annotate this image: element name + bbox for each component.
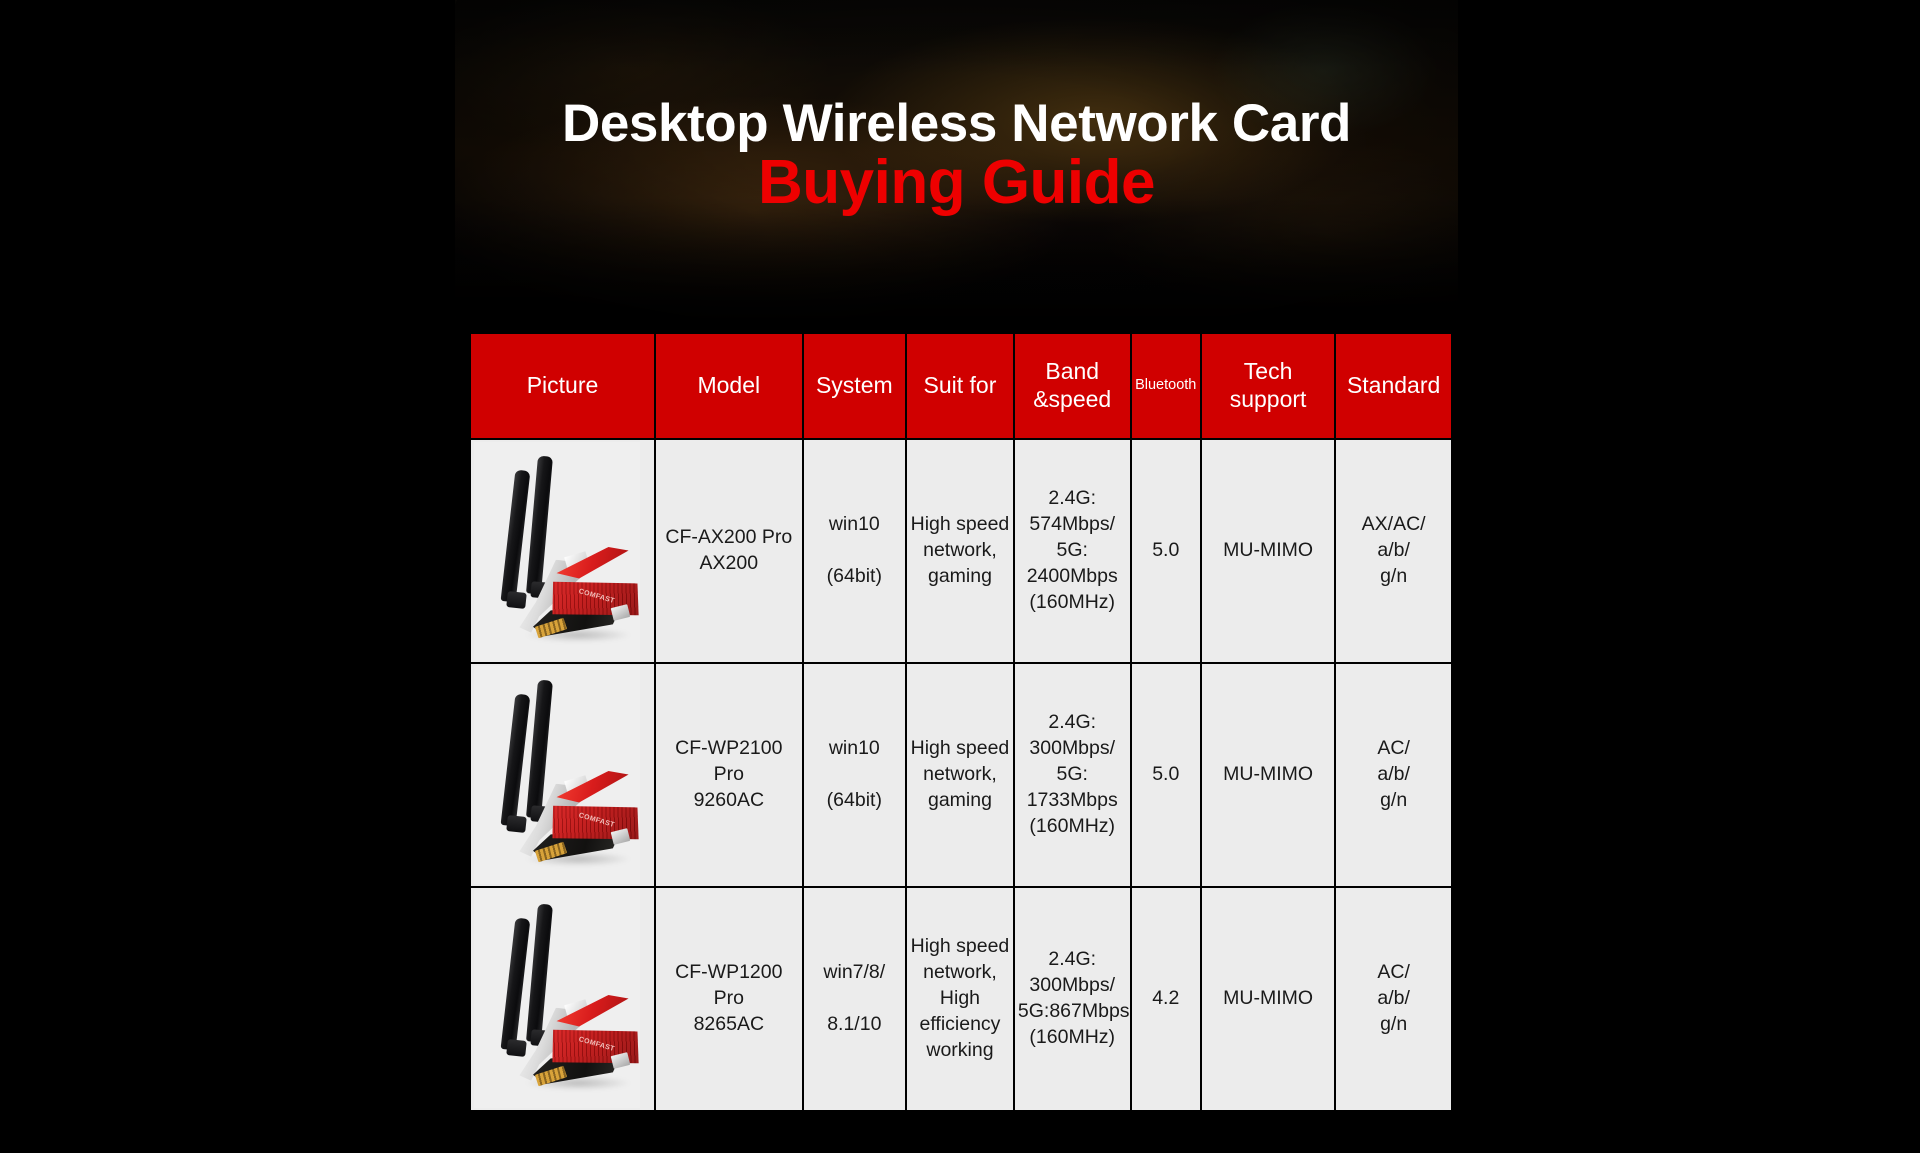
cell-picture: COMFAST	[471, 664, 654, 886]
system-line-2: (64bit)	[827, 789, 882, 811]
suit-line-1: High speed	[911, 513, 1010, 535]
suit-line-3: gaming	[928, 789, 992, 811]
cell-picture: COMFAST	[471, 440, 654, 662]
cell-bluetooth: 5.0	[1132, 440, 1200, 662]
table-row: COMFAST CF-AX200 Pro AX200 win10 (64bit)…	[471, 440, 1451, 662]
system-line-1: win7/8/	[823, 961, 885, 983]
cell-standard: AX/AC/ a/b/ g/n	[1336, 440, 1451, 662]
band-line-1: 2.4G:	[1048, 948, 1096, 970]
model-line-2: AX200	[700, 552, 759, 574]
antenna-left-base	[506, 591, 527, 609]
cell-standard: AC/ a/b/ g/n	[1336, 888, 1451, 1110]
antenna-port	[611, 828, 631, 845]
column-header-system: System	[804, 334, 905, 438]
model-line-1: CF-WP1200 Pro	[675, 961, 782, 1009]
model-line-1: CF-WP2100 Pro	[675, 737, 782, 785]
hero-banner: Desktop Wireless Network Card Buying Gui…	[455, 0, 1458, 318]
product-image-wireless-card: COMFAST	[474, 666, 640, 884]
table-row: COMFAST CF-WP1200 Pro 8265AC win7/8/ 8.1…	[471, 888, 1451, 1110]
standard-line-1: AX/AC/	[1362, 513, 1426, 535]
suit-line-2: network,	[923, 763, 997, 785]
band-line-5: (160MHz)	[1029, 815, 1115, 837]
standard-line-1: AC/	[1377, 961, 1410, 983]
table-row: COMFAST CF-WP2100 Pro 9260AC win10 (64bi…	[471, 664, 1451, 886]
cell-band-speed: 2.4G: 300Mbps/ 5G:867Mbps (160MHz)	[1015, 888, 1130, 1110]
suit-line-1: High speed	[911, 737, 1010, 759]
banner-title: Desktop Wireless Network Card	[455, 96, 1458, 152]
cell-tech-support: MU-MIMO	[1202, 888, 1334, 1110]
band-line-4: (160MHz)	[1029, 1026, 1115, 1048]
column-header-bluetooth: Bluetooth	[1132, 334, 1200, 438]
cell-system: win7/8/ 8.1/10	[804, 888, 905, 1110]
cell-standard: AC/ a/b/ g/n	[1336, 664, 1451, 886]
cell-tech-support: MU-MIMO	[1202, 440, 1334, 662]
table-header-row: Picture Model System Suit for Band &spee…	[471, 334, 1451, 438]
column-header-standard: Standard	[1336, 334, 1451, 438]
model-line-1: CF-AX200 Pro	[665, 526, 792, 548]
band-line-5: (160MHz)	[1029, 591, 1115, 613]
standard-line-3: g/n	[1380, 565, 1407, 587]
suit-line-5: working	[926, 1039, 993, 1061]
cell-suit-for: High speed network, High efficiency work…	[907, 888, 1013, 1110]
band-line-3: 5G:	[1057, 539, 1088, 561]
band-line-2: 300Mbps/	[1029, 737, 1115, 759]
banner-subtitle: Buying Guide	[455, 150, 1458, 216]
suit-line-4: efficiency	[919, 1013, 1000, 1035]
band-line-3: 5G:867Mbps	[1018, 1000, 1130, 1022]
standard-line-3: g/n	[1380, 1013, 1407, 1035]
cell-tech-support: MU-MIMO	[1202, 664, 1334, 886]
product-image-wireless-card: COMFAST	[474, 442, 640, 660]
antenna-port	[611, 604, 631, 621]
band-line-2: 574Mbps/	[1029, 513, 1115, 535]
band-line-4: 1733Mbps	[1027, 789, 1118, 811]
column-header-picture: Picture	[471, 334, 654, 438]
spec-comparison-table: Picture Model System Suit for Band &spee…	[469, 332, 1453, 1112]
cell-bluetooth: 4.2	[1132, 888, 1200, 1110]
cell-band-speed: 2.4G: 574Mbps/ 5G: 2400Mbps (160MHz)	[1015, 440, 1130, 662]
antenna-right-icon	[526, 456, 553, 595]
suit-line-3: High	[940, 987, 980, 1009]
band-line-1: 2.4G:	[1048, 711, 1096, 733]
band-line-4: 2400Mbps	[1027, 565, 1118, 587]
antenna-left-base	[506, 1039, 527, 1057]
standard-line-1: AC/	[1377, 737, 1410, 759]
column-header-model: Model	[656, 334, 802, 438]
antenna-port	[611, 1052, 631, 1069]
band-header-line-2: &speed	[1033, 386, 1111, 412]
page-root: Desktop Wireless Network Card Buying Gui…	[0, 0, 1920, 1153]
cell-model: CF-WP2100 Pro 9260AC	[656, 664, 802, 886]
cell-system: win10 (64bit)	[804, 664, 905, 886]
suit-line-2: network,	[923, 961, 997, 983]
suit-line-3: gaming	[928, 565, 992, 587]
system-line-1: win10	[829, 513, 880, 535]
cell-suit-for: High speed network, gaming	[907, 664, 1013, 886]
column-header-band-speed: Band &speed	[1015, 334, 1130, 438]
suit-line-2: network,	[923, 539, 997, 561]
cell-suit-for: High speed network, gaming	[907, 440, 1013, 662]
band-line-2: 300Mbps/	[1029, 974, 1115, 996]
cell-band-speed: 2.4G: 300Mbps/ 5G: 1733Mbps (160MHz)	[1015, 664, 1130, 886]
cell-picture: COMFAST	[471, 888, 654, 1110]
standard-line-3: g/n	[1380, 789, 1407, 811]
tech-header-line-2: support	[1230, 386, 1307, 412]
system-line-1: win10	[829, 737, 880, 759]
model-line-2: 8265AC	[694, 1013, 764, 1035]
product-image-wireless-card: COMFAST	[474, 890, 640, 1108]
cell-model: CF-WP1200 Pro 8265AC	[656, 888, 802, 1110]
column-header-suit-for: Suit for	[907, 334, 1013, 438]
cell-model: CF-AX200 Pro AX200	[656, 440, 802, 662]
model-line-2: 9260AC	[694, 789, 764, 811]
tech-header-line-1: Tech	[1244, 358, 1293, 384]
antenna-right-icon	[526, 680, 553, 819]
spec-table-container: Picture Model System Suit for Band &spee…	[469, 332, 1453, 1100]
band-line-1: 2.4G:	[1048, 487, 1096, 509]
cell-bluetooth: 5.0	[1132, 664, 1200, 886]
antenna-left-base	[506, 815, 527, 833]
system-line-2: 8.1/10	[827, 1013, 881, 1035]
standard-line-2: a/b/	[1377, 539, 1410, 561]
standard-line-2: a/b/	[1377, 763, 1410, 785]
column-header-tech-support: Tech support	[1202, 334, 1334, 438]
standard-line-2: a/b/	[1377, 987, 1410, 1009]
band-line-3: 5G:	[1057, 763, 1088, 785]
suit-line-1: High speed	[911, 935, 1010, 957]
antenna-right-icon	[526, 904, 553, 1043]
system-line-2: (64bit)	[827, 565, 882, 587]
cell-system: win10 (64bit)	[804, 440, 905, 662]
table-header: Picture Model System Suit for Band &spee…	[471, 334, 1451, 438]
table-body: COMFAST CF-AX200 Pro AX200 win10 (64bit)…	[471, 440, 1451, 1110]
band-header-line-1: Band	[1045, 358, 1099, 384]
